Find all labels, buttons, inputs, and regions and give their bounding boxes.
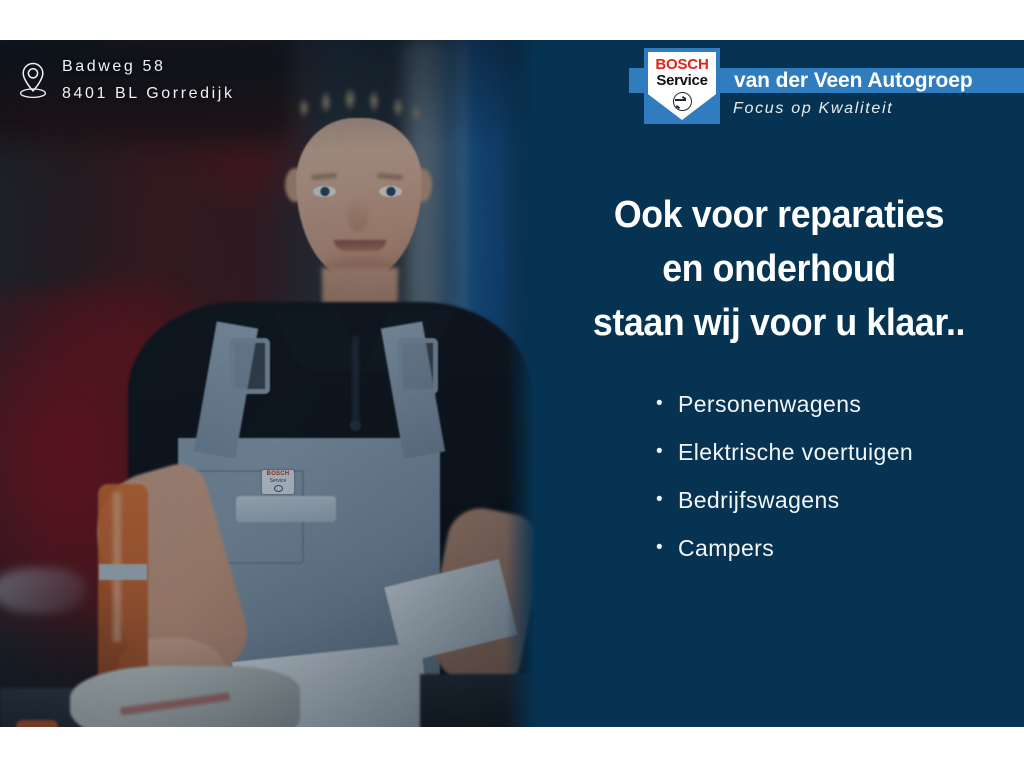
list-item: Personenwagens xyxy=(656,380,1024,428)
headline-line-3: staan wij voor u klaar.. xyxy=(549,296,1010,350)
location-pin-icon xyxy=(18,61,48,99)
logo-shield-shape: BOSCH Service xyxy=(648,52,716,120)
promotional-banner: BOSCH Service Badweg 58 xyxy=(0,40,1024,727)
photo-vignette xyxy=(0,40,534,727)
address-overlay: Badweg 58 8401 BL Gorredijk xyxy=(18,53,235,107)
headline-line-1: Ook voor reparaties xyxy=(549,188,1010,242)
mechanic-portrait-photo: BOSCH Service xyxy=(0,40,534,727)
company-name: van der Veen Autogroep xyxy=(734,68,973,93)
logo-service-text: Service xyxy=(656,72,707,89)
headline-line-2: en onderhoud xyxy=(549,242,1010,296)
photo-panel-blend-edge xyxy=(506,40,534,727)
list-item: Elektrische voertuigen xyxy=(656,428,1024,476)
address-line-1: Badweg 58 xyxy=(62,53,235,80)
address-text-block: Badweg 58 8401 BL Gorredijk xyxy=(62,53,235,107)
logo-bosch-text: BOSCH xyxy=(655,56,708,73)
services-list: Personenwagens Elektrische voertuigen Be… xyxy=(656,380,1024,572)
list-item: Campers xyxy=(656,524,1024,572)
message-panel: BOSCH Service van der Veen Autogroep Foc… xyxy=(534,40,1024,727)
bosch-armature-icon xyxy=(673,92,692,111)
bosch-service-logo: BOSCH Service xyxy=(644,48,720,124)
brand-header: BOSCH Service van der Veen Autogroep Foc… xyxy=(534,40,1024,140)
headline: Ook voor reparaties en onderhoud staan w… xyxy=(549,188,1010,350)
list-item: Bedrijfswagens xyxy=(656,476,1024,524)
address-line-2: 8401 BL Gorredijk xyxy=(62,80,235,107)
company-tagline: Focus op Kwaliteit xyxy=(733,100,893,118)
